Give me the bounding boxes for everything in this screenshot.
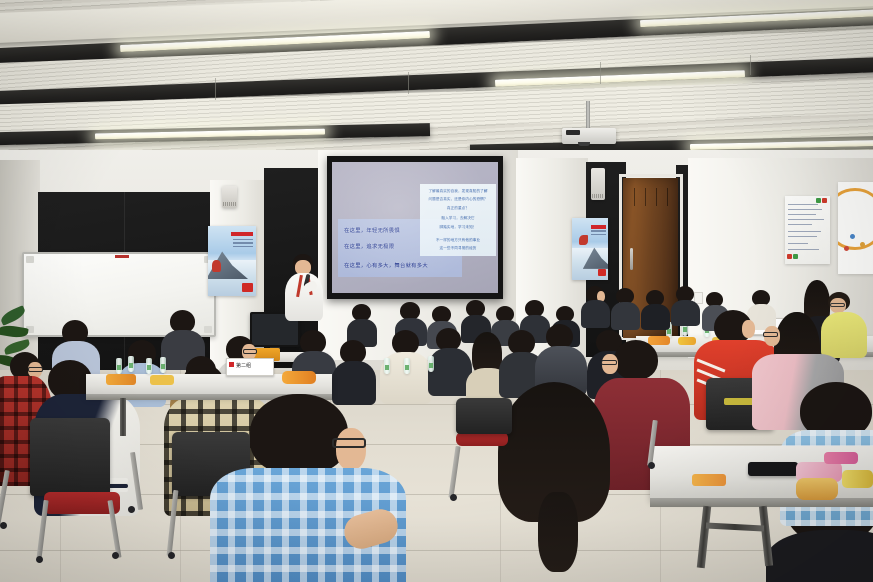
water-bottle xyxy=(160,357,166,373)
slide-panel-line: 脚踏实地，学习未知！ xyxy=(420,225,496,230)
remote-control[interactable] xyxy=(748,462,798,476)
slide-panel-line: 融入学习，去解决它 xyxy=(420,216,496,221)
slide-panel-line: 这一些不同寻常的经历 xyxy=(420,246,496,251)
door-handle[interactable] xyxy=(630,248,633,270)
projection-screen: 在这里，年轻无所畏惧 在这里，追求无极限 在这里，心有多大，舞台就有多大 了解最… xyxy=(327,156,503,299)
skier-poster xyxy=(572,218,608,280)
water-bottle xyxy=(404,358,410,374)
wall-speaker xyxy=(591,168,605,200)
handwritten-flipchart-poster xyxy=(785,196,830,264)
snack-item xyxy=(678,337,696,345)
chair[interactable] xyxy=(456,398,512,434)
eyeglasses xyxy=(332,438,366,448)
water-bottle xyxy=(128,356,134,372)
eyeglasses xyxy=(763,332,778,337)
slide-panel-line: 了解最真实的自我，发现真知的了解 xyxy=(420,189,496,194)
projector-lens xyxy=(578,142,590,146)
slide-text-panel: 了解最真实的自我，发现真知的了解 问题是否真实，还是你内心的恐惧？ 真正的重点？… xyxy=(420,184,496,256)
water-bottle xyxy=(384,358,390,374)
table-sign-group-2: 第二组 xyxy=(226,358,274,376)
snack-item xyxy=(106,374,136,385)
sticky-note xyxy=(793,254,798,259)
circle-diagram-poster xyxy=(838,182,873,274)
eyeglasses xyxy=(243,349,257,354)
projection-screen-surface: 在这里，年轻无所畏惧 在这里，追求无极限 在这里，心有多大，舞台就有多大 了解最… xyxy=(332,162,498,293)
snack-item xyxy=(824,452,858,464)
water-bottle xyxy=(146,358,152,374)
sticky-note xyxy=(816,198,821,203)
fruit-bowl xyxy=(796,478,838,500)
eyeglasses xyxy=(28,367,43,372)
eyeglasses xyxy=(601,360,617,365)
snack-item xyxy=(842,470,873,488)
fruit-bowl xyxy=(282,371,316,384)
slide-line-2: 在这里，追求无极限 xyxy=(344,242,394,250)
slide-panel-line: 不一样的地方只有他的事业 xyxy=(420,238,496,243)
water-bottle xyxy=(428,356,434,372)
chair[interactable] xyxy=(30,418,110,496)
sticky-note xyxy=(822,198,827,203)
snack-item xyxy=(692,474,726,486)
mountain-climber-poster xyxy=(208,226,256,296)
ceiling xyxy=(0,0,873,175)
slide-panel-line: 真正的重点？ xyxy=(420,206,496,211)
water-bottle xyxy=(116,358,122,374)
ponytail-tail xyxy=(538,492,578,572)
chair-seat[interactable] xyxy=(456,432,508,446)
projector-mount xyxy=(586,101,590,130)
slide-line-1: 在这里，年轻无所畏惧 xyxy=(344,226,400,234)
meeting-room-photo: 在这里，年轻无所畏惧 在这里，追求无极限 在这里，心有多大，舞台就有多大 了解最… xyxy=(0,0,873,582)
sticky-note xyxy=(787,254,792,259)
snack-item xyxy=(648,336,670,345)
slide-line-3: 在这里，心有多大，舞台就有多大 xyxy=(344,261,428,269)
eyeglasses xyxy=(830,303,845,307)
snack-item xyxy=(150,375,174,385)
slide-panel-line: 问题是否真实，还是你内心的恐惧？ xyxy=(420,197,496,202)
wall-speaker xyxy=(222,186,237,208)
